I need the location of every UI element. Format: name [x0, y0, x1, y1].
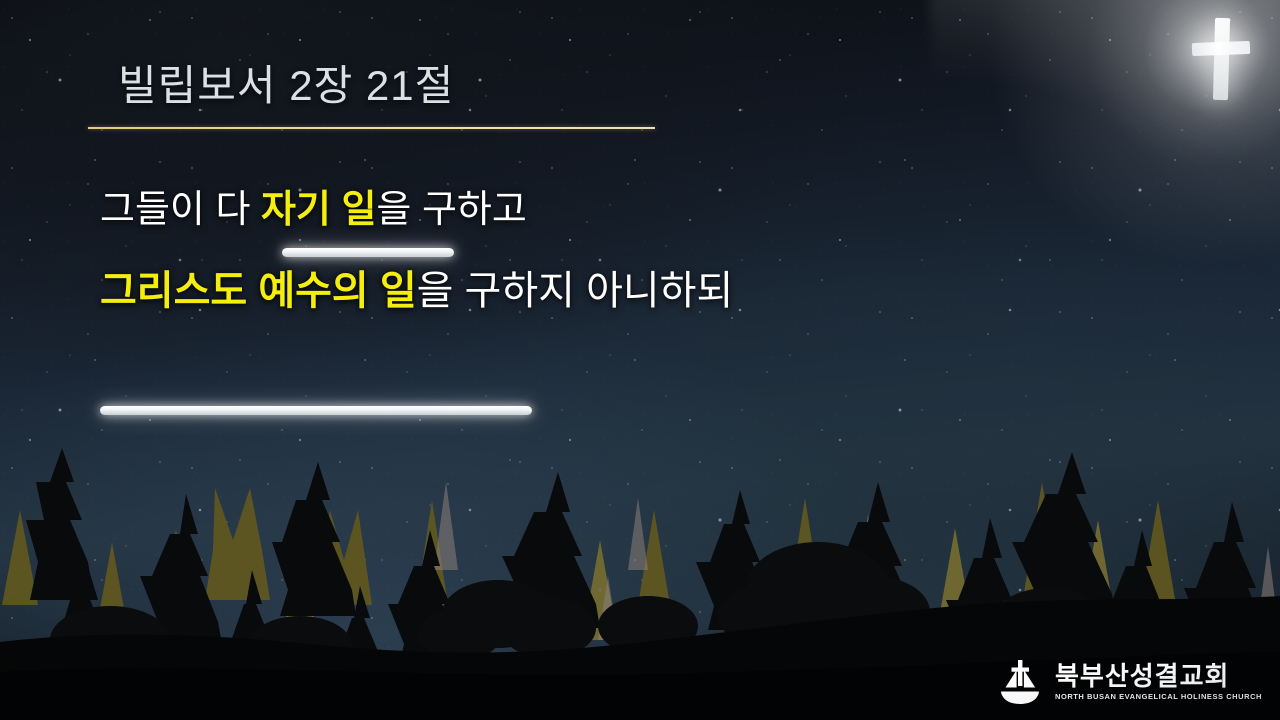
verse-body: 그들이 다 자기 일을 구하고 그리스도 예수의 일을 구하지 아니하되 — [100, 180, 1180, 322]
forest-mid-olive — [158, 508, 1118, 640]
logo-korean-name: 북부산성결교회 — [1055, 663, 1262, 689]
verse-line-1: 그들이 다 자기 일을 구하고 — [100, 180, 1180, 240]
page-title: 빌립보서 2장 21절 — [118, 52, 454, 113]
logo-text-block: 북부산성결교회 NORTH BUSAN EVANGELICAL HOLINESS… — [1055, 663, 1262, 701]
verse-line-2-highlight: 그리스도 예수의 일 — [100, 269, 417, 313]
forest-back-olive — [2, 482, 1238, 620]
highlight-underline-2 — [100, 406, 532, 415]
forest-distant-spires — [434, 482, 1279, 645]
verse-line-1-post: 을 구하고 — [376, 189, 526, 231]
forest-broadleaf — [50, 542, 1104, 690]
slide-canvas: 빌립보서 2장 21절 그들이 다 자기 일을 구하고 그리스도 예수의 일을 … — [0, 0, 1280, 720]
sailboat-cross-icon — [997, 658, 1043, 706]
cross-icon — [1190, 18, 1252, 100]
verse-line-2-post: 을 구하지 아니하되 — [417, 269, 734, 313]
logo-english-name: NORTH BUSAN EVANGELICAL HOLINESS CHURCH — [1055, 693, 1262, 701]
highlight-underline-1 — [282, 248, 454, 257]
cross-horizontal-bar — [1192, 41, 1250, 56]
verse-line-1-highlight: 자기 일 — [261, 189, 376, 231]
title-divider — [88, 127, 655, 129]
verse-line-1-pre: 그들이 다 — [100, 189, 261, 231]
church-logo: 북부산성결교회 NORTH BUSAN EVANGELICAL HOLINESS… — [997, 658, 1262, 706]
verse-line-2: 그리스도 예수의 일을 구하지 아니하되 — [100, 260, 1180, 322]
forest-conifers — [26, 448, 1272, 676]
cross-vertical-bar — [1213, 18, 1230, 100]
